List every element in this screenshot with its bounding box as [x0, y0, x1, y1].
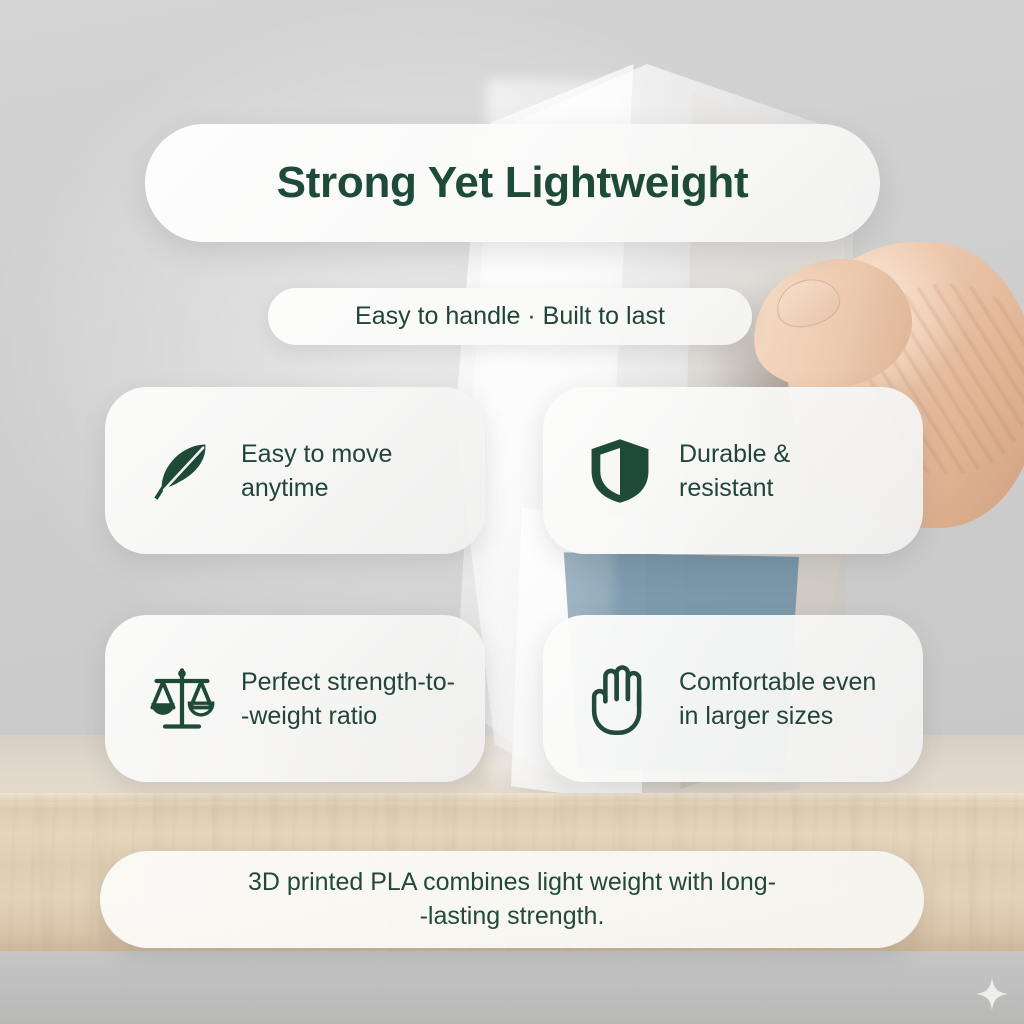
feature-card-easy-to-move[interactable]: Easy to move anytime	[105, 387, 485, 554]
feature-label: Durable & resistant	[679, 437, 790, 505]
open-hand-icon	[583, 662, 657, 736]
shield-icon	[583, 434, 657, 508]
page-subtitle: Easy to handle · Built to last	[355, 302, 665, 331]
feather-icon	[145, 434, 219, 508]
title-pill: Strong Yet Lightweight	[145, 124, 880, 242]
page-title: Strong Yet Lightweight	[277, 158, 749, 208]
feature-label: Comfortable even in larger sizes	[679, 665, 876, 733]
promo-scene: Strong Yet Lightweight Easy to handle · …	[0, 0, 1024, 1024]
sparkle-icon	[975, 977, 1009, 1011]
feature-label: Easy to move anytime	[241, 437, 392, 505]
feature-card-grid: Easy to move anytime Durable & resistant	[105, 387, 923, 782]
feature-card-durable[interactable]: Durable & resistant	[543, 387, 923, 554]
scales-icon	[145, 662, 219, 736]
footer-text: 3D printed PLA combines light weight wit…	[248, 866, 776, 933]
feature-card-comfortable[interactable]: Comfortable even in larger sizes	[543, 615, 923, 782]
footer-pill: 3D printed PLA combines light weight wit…	[100, 851, 924, 948]
feature-card-strength-to-weight[interactable]: Perfect strength-to- -weight ratio	[105, 615, 485, 782]
feature-label: Perfect strength-to- -weight ratio	[241, 665, 455, 733]
subtitle-pill: Easy to handle · Built to last	[268, 288, 752, 345]
floor-area	[0, 951, 1024, 1024]
